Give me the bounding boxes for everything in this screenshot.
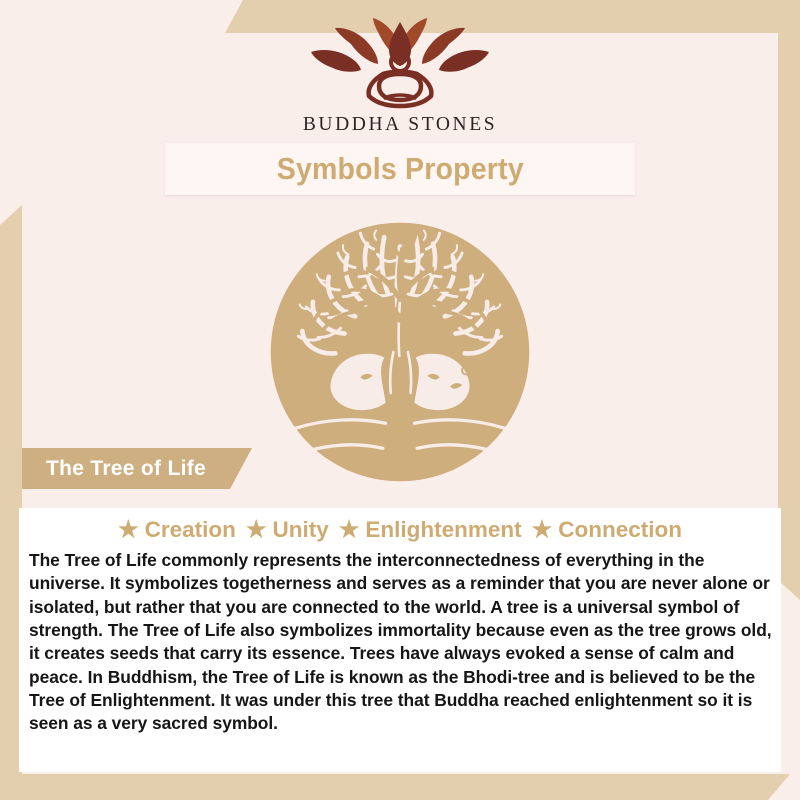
- star-icon: ★: [118, 518, 139, 541]
- section-label-tree-of-life: The Tree of Life: [22, 448, 252, 489]
- keyword-list: ★ Creation ★ Unity ★ Enlightenment ★ Con…: [19, 508, 781, 543]
- keyword-label: Enlightenment: [365, 517, 521, 543]
- keyword-item: ★ Enlightenment: [339, 517, 522, 543]
- star-icon: ★: [339, 518, 360, 541]
- star-icon: ★: [532, 518, 553, 541]
- keyword-item: ★ Unity: [246, 517, 329, 543]
- title-banner: Symbols Property: [165, 143, 635, 195]
- content-card: ★ Creation ★ Unity ★ Enlightenment ★ Con…: [19, 508, 781, 772]
- keyword-label: Creation: [145, 517, 236, 543]
- description-paragraph: The Tree of Life commonly represents the…: [29, 549, 773, 736]
- brand-name: BUDDHA STONES: [0, 114, 800, 136]
- frame-band-bottom: [0, 774, 790, 800]
- keyword-item: ★ Connection: [532, 517, 682, 543]
- tree-of-life-icon: [268, 220, 532, 484]
- section-label-text: The Tree of Life: [46, 457, 206, 481]
- page-title: Symbols Property: [276, 151, 523, 187]
- star-icon: ★: [246, 518, 267, 541]
- keyword-label: Connection: [558, 517, 682, 543]
- keyword-label: Unity: [273, 517, 329, 543]
- poster-root: BUDDHA STONES Symbols Property: [0, 0, 800, 800]
- lotus-meditation-icon: [0, 16, 800, 112]
- brand-logo: BUDDHA STONES: [0, 16, 800, 136]
- keyword-item: ★ Creation: [118, 517, 236, 543]
